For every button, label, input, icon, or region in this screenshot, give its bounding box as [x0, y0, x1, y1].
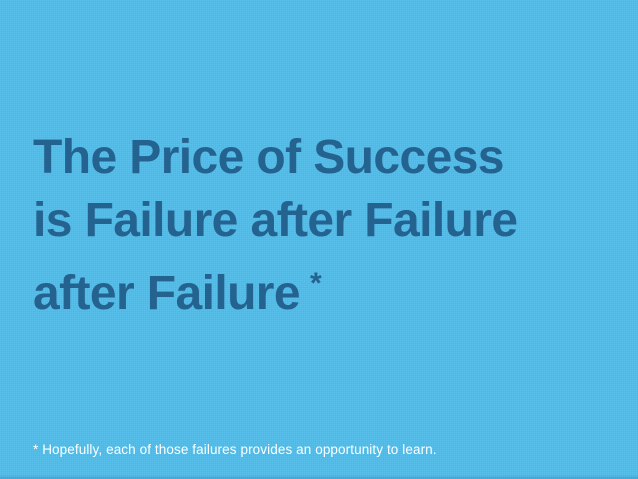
- headline-line-3: after Failure*: [33, 252, 608, 325]
- slide-footnote: * Hopefully, each of those failures prov…: [33, 441, 437, 459]
- slide-bottom-edge: [0, 475, 638, 479]
- headline-line-2: is Failure after Failure: [33, 189, 608, 252]
- presentation-slide: The Price of Success is Failure after Fa…: [0, 0, 638, 479]
- footnote-marker-asterisk: *: [310, 267, 322, 300]
- headline-line-1: The Price of Success: [33, 126, 608, 189]
- headline-line-3-text: after Failure: [33, 267, 300, 320]
- slide-headline: The Price of Success is Failure after Fa…: [33, 126, 608, 325]
